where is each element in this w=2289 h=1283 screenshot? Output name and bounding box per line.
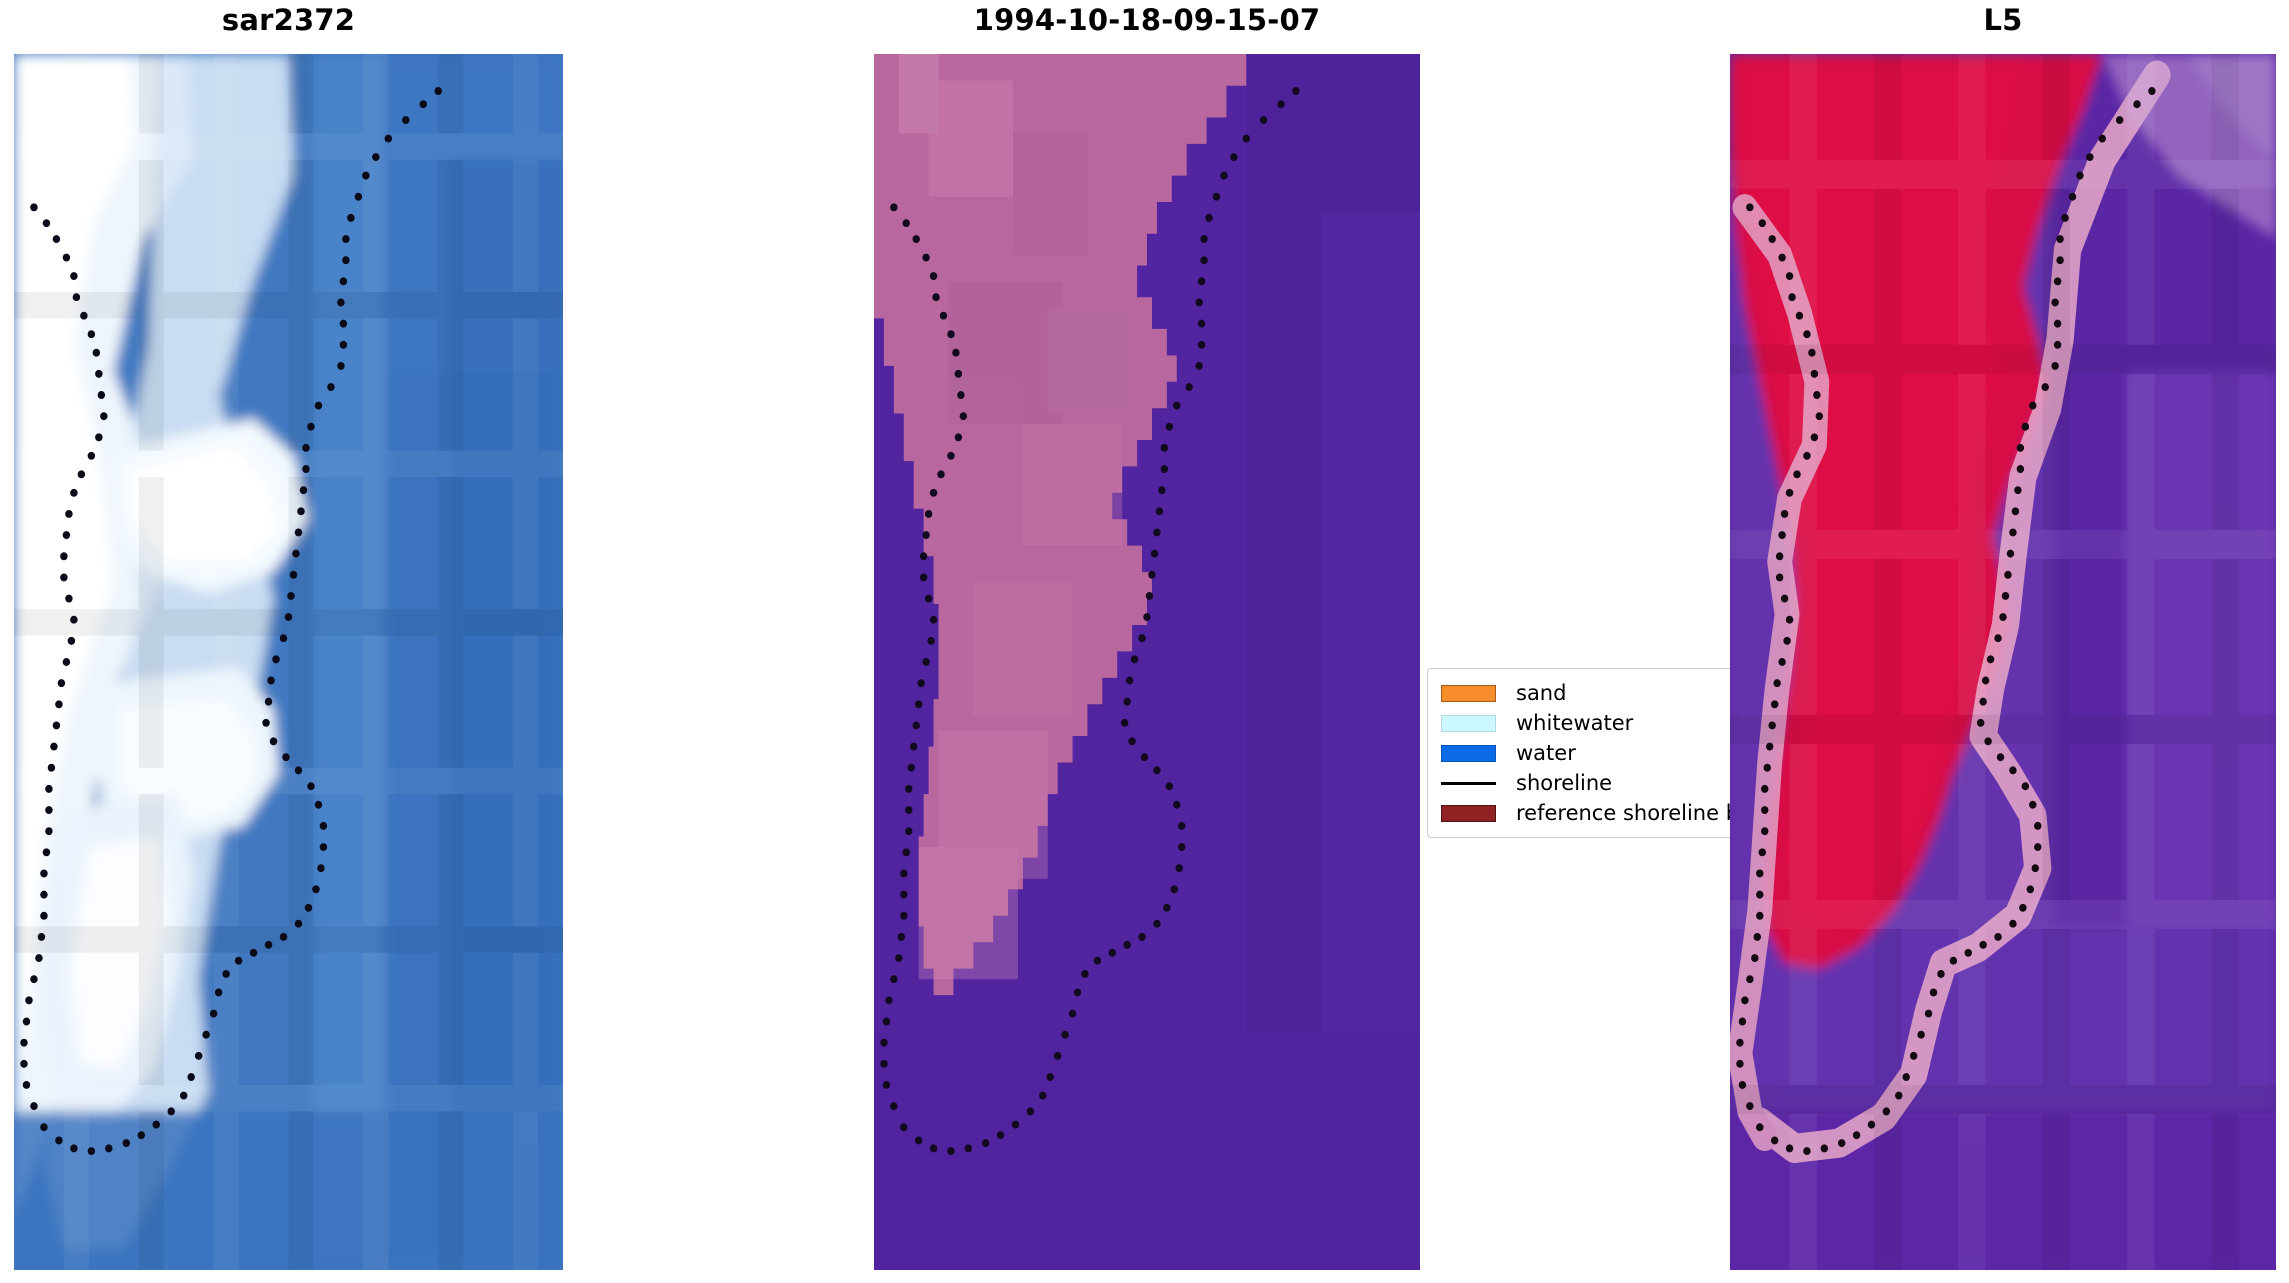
water-swatch-icon bbox=[1441, 745, 1496, 762]
legend: sand whitewater water shoreline referenc… bbox=[1427, 668, 1737, 838]
shoreline-line-icon bbox=[1441, 775, 1496, 792]
legend-label-shoreline: shoreline bbox=[1516, 773, 1612, 794]
reference-buffer-swatch-icon bbox=[1441, 805, 1496, 822]
legend-item-sand: sand bbox=[1441, 678, 1724, 708]
legend-item-water: water bbox=[1441, 738, 1724, 768]
whitewater-swatch-icon bbox=[1441, 715, 1496, 732]
sar-backscatter-image bbox=[14, 54, 563, 1270]
legend-label-whitewater: whitewater bbox=[1516, 713, 1633, 734]
panel-sar2372[interactable]: sar2372 bbox=[14, 54, 563, 1270]
sand-swatch-icon bbox=[1441, 685, 1496, 702]
panel-title-sar: sar2372 bbox=[14, 6, 563, 35]
panel-classified[interactable]: 1994-10-18-09-15-07 bbox=[874, 54, 1420, 1270]
classified-image bbox=[874, 54, 1420, 1270]
panel-l5[interactable]: L5 bbox=[1730, 54, 2276, 1270]
legend-item-reference-buffer: reference shoreline buffer bbox=[1441, 798, 1724, 828]
panel-title-l5: L5 bbox=[1730, 6, 2276, 35]
legend-label-water: water bbox=[1516, 743, 1576, 764]
figure-root: sar2372 bbox=[0, 0, 2289, 1283]
legend-item-whitewater: whitewater bbox=[1441, 708, 1724, 738]
legend-item-shoreline: shoreline bbox=[1441, 768, 1724, 798]
l5-index-image bbox=[1730, 54, 2276, 1270]
panel-title-classified: 1994-10-18-09-15-07 bbox=[874, 6, 1420, 35]
legend-label-sand: sand bbox=[1516, 683, 1566, 704]
